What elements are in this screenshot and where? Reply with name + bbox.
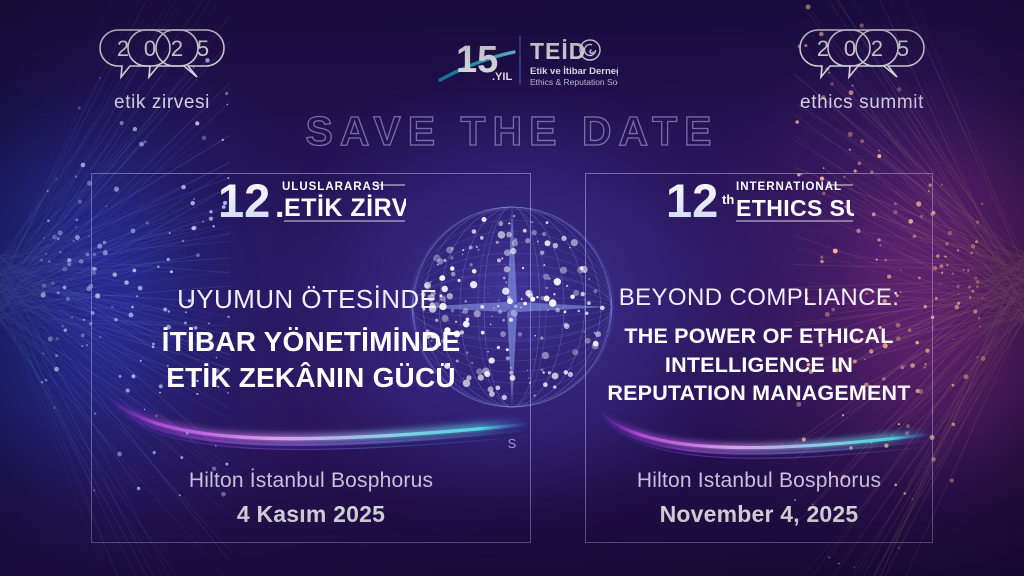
teid-tagline-en: Ethics & Reputation Society xyxy=(530,77,618,87)
panel-date-tr: 4 Kasım 2025 xyxy=(92,501,530,528)
panel-headline-tr: İTİBAR YÖNETİMİNDE ETİK ZEKÂNIN GÜCÜ xyxy=(92,324,530,396)
light-swoosh-icon-right xyxy=(586,402,932,472)
panel-kicker-en: BEYOND COMPLIANCE: xyxy=(586,284,932,312)
logo-digit: 5 xyxy=(897,36,909,61)
lockup-ordinal: th xyxy=(722,192,734,207)
panel-venue-tr: Hilton İstanbul Bosphorus xyxy=(92,469,530,493)
panel-date-en: November 4, 2025 xyxy=(586,501,932,528)
event-lockup-en: 12 th INTERNATIONAL ETHICS SUMMIT xyxy=(586,164,932,226)
speech-bubble-2025-icon: 2 0 2 5 xyxy=(752,26,972,88)
light-swoosh-icon-left xyxy=(92,386,530,466)
headline-line: INTELLIGENCE IN xyxy=(586,351,932,380)
lockup-name: ETHICS SUMMIT xyxy=(736,195,854,221)
logo-digit: 2 xyxy=(117,36,129,61)
logo-etik-zirvesi-2025: 2 0 2 5 etik zirvesi xyxy=(52,26,272,114)
headline-line: İTİBAR YÖNETİMİNDE xyxy=(92,324,530,360)
teid-brand: TEİD xyxy=(530,38,586,64)
panel-headline-en: THE POWER OF ETHICAL INTELLIGENCE IN REP… xyxy=(586,322,932,408)
headline-line: ETİK ZEKÂNIN GÜCÜ xyxy=(92,360,530,396)
logo-digit: 0 xyxy=(144,36,156,61)
event-lockup-tr: 12 . ULUSLARARASI ETİK ZİRVESİ xyxy=(92,164,530,226)
speech-bubble-2025-icon: 2 0 2 5 xyxy=(52,26,272,88)
panel-kicker-tr: UYUMUN ÖTESİNDE: xyxy=(92,284,530,315)
logo-digit: 2 xyxy=(171,36,183,61)
lockup-name: ETİK ZİRVESİ xyxy=(284,194,406,222)
headline-line: REPUTATION MANAGEMENT xyxy=(586,379,932,408)
lockup-superline: ULUSLARARASI xyxy=(282,181,385,193)
save-the-date-poster: S 2 0 2 5 xyxy=(0,0,1024,576)
headline-line: THE POWER OF ETHICAL xyxy=(586,322,932,351)
logo-ethics-summit-2025: 2 0 2 5 ethics summit xyxy=(752,26,972,114)
lockup-number: 12 xyxy=(666,174,718,226)
logo-digit: 5 xyxy=(197,36,209,61)
save-the-date-title: SAVE THE DATE xyxy=(0,108,1024,155)
panel-english: 12 th INTERNATIONAL ETHICS SUMMIT BEYOND… xyxy=(585,173,933,543)
header: 2 0 2 5 etik zirvesi xyxy=(0,0,1024,118)
teid-tagline-tr: Etik ve İtibar Derneği xyxy=(530,66,618,77)
anniversary-suffix: .YIL xyxy=(492,71,512,83)
logo-digit: 2 xyxy=(871,36,883,61)
panel-turkish: 12 . ULUSLARARASI ETİK ZİRVESİ UYUMUN ÖT… xyxy=(91,173,531,543)
logo-digit: 0 xyxy=(844,36,856,61)
logo-digit: 2 xyxy=(817,36,829,61)
panel-venue-en: Hilton Istanbul Bosphorus xyxy=(586,469,932,493)
lockup-superline: INTERNATIONAL xyxy=(736,181,842,193)
teid-logo: 15 .YIL TEİD Etik ve İtibar Derneği Ethi… xyxy=(438,28,618,92)
lockup-number: 12 xyxy=(218,174,270,226)
